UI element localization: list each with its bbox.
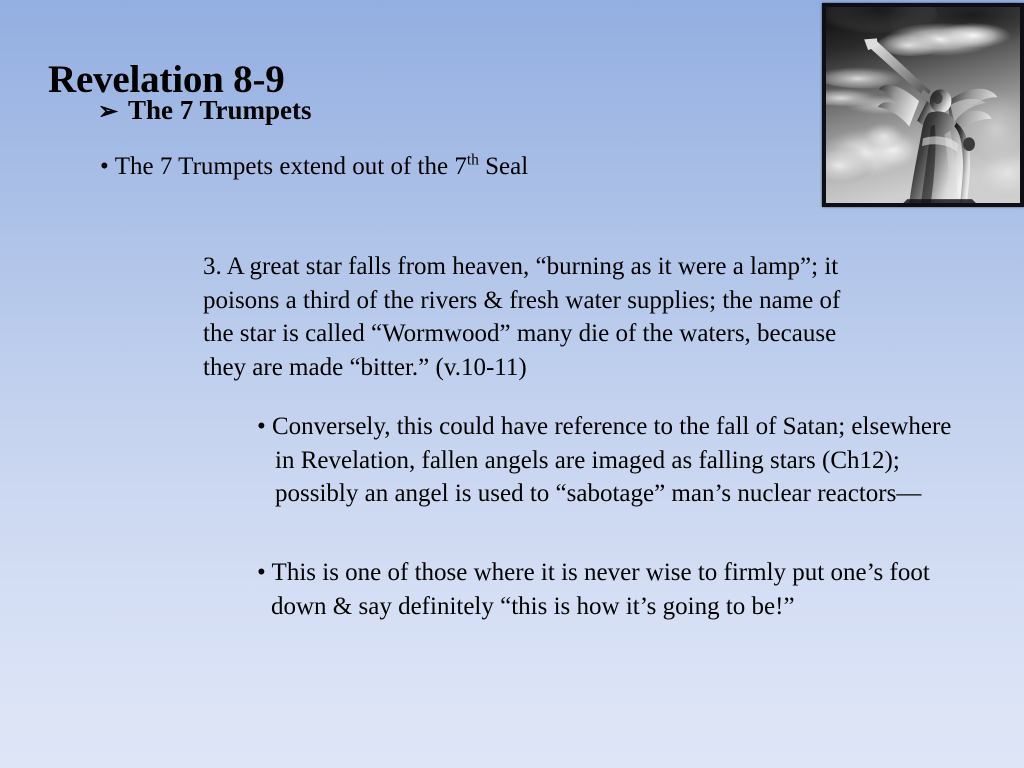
lead-bullet-line: •The 7 Trumpets extend out of the 7th Se… — [100, 152, 528, 182]
ordinal-superscript: th — [467, 152, 479, 169]
subheading-label: The 7 Trumpets — [128, 95, 312, 126]
slide-canvas: Revelation 8-9 ➢ The 7 Trumpets •The 7 T… — [0, 0, 1024, 768]
angel-statue-trumpet-photo — [822, 3, 1024, 207]
subheading: ➢ The 7 Trumpets — [98, 95, 312, 126]
lead-line-text-before: The 7 Trumpets extend out of the 7 — [115, 153, 467, 180]
lead-line-text-after: Seal — [479, 153, 528, 180]
bullet-dot-icon: • — [100, 152, 115, 182]
body-paragraph-conversely: • Conversely, this could have reference … — [257, 410, 965, 511]
body-paragraph-caution: • This is one of those where it is never… — [257, 556, 971, 623]
body-paragraph-third-trumpet: 3. A great star falls from heaven, “burn… — [203, 250, 863, 384]
arrow-bullet-icon: ➢ — [98, 100, 128, 124]
